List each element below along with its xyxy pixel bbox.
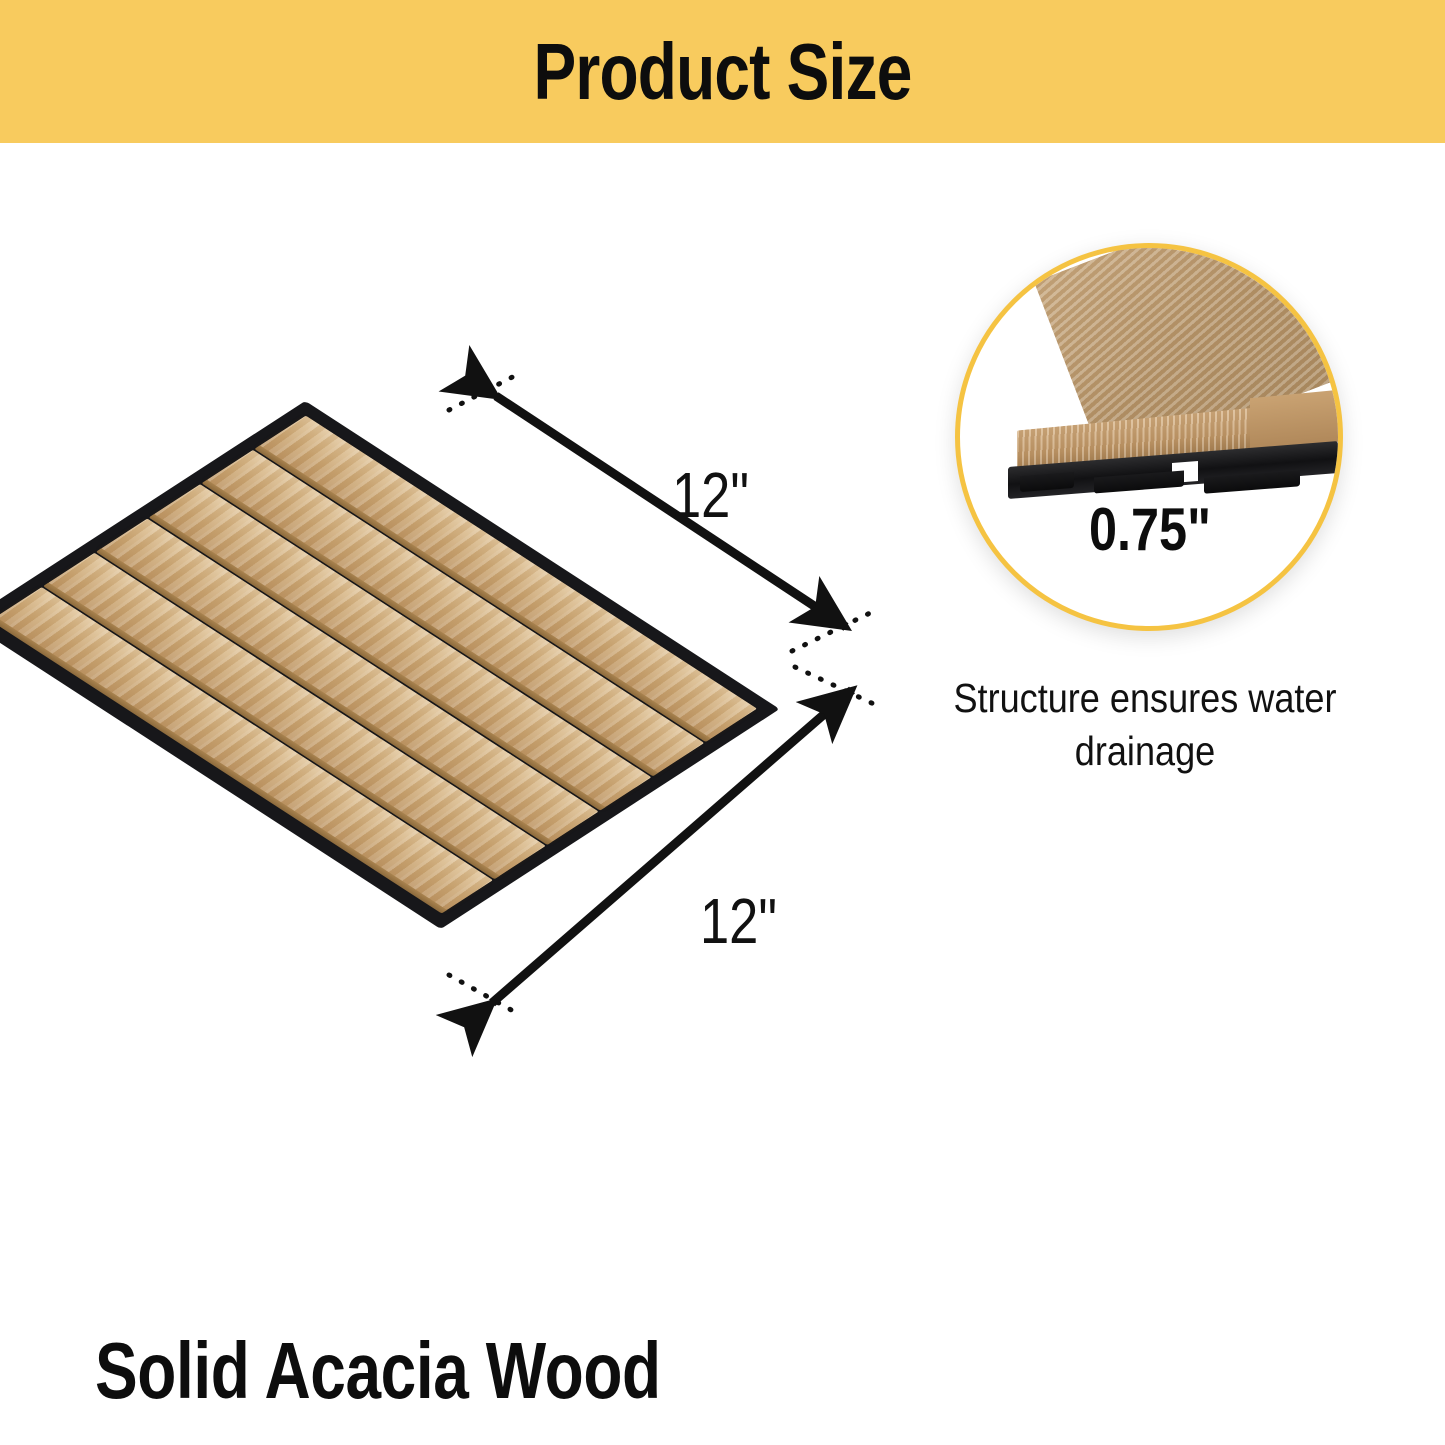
footer-headline: Solid Acacia Wood [95,1325,661,1417]
header-banner: Product Size [0,0,1445,143]
infographic-canvas: Product Size [0,0,1445,1445]
thickness-label: 0.75" [1053,495,1246,564]
page-title: Product Size [145,0,1301,143]
dimension-label-width: 12" [672,458,749,532]
dimension-label-depth: 12" [700,884,777,958]
thickness-detail-circle [955,243,1343,631]
installed-deck-preview [640,780,1445,1445]
drainage-caption: Structure ensures water drainage [951,672,1338,779]
